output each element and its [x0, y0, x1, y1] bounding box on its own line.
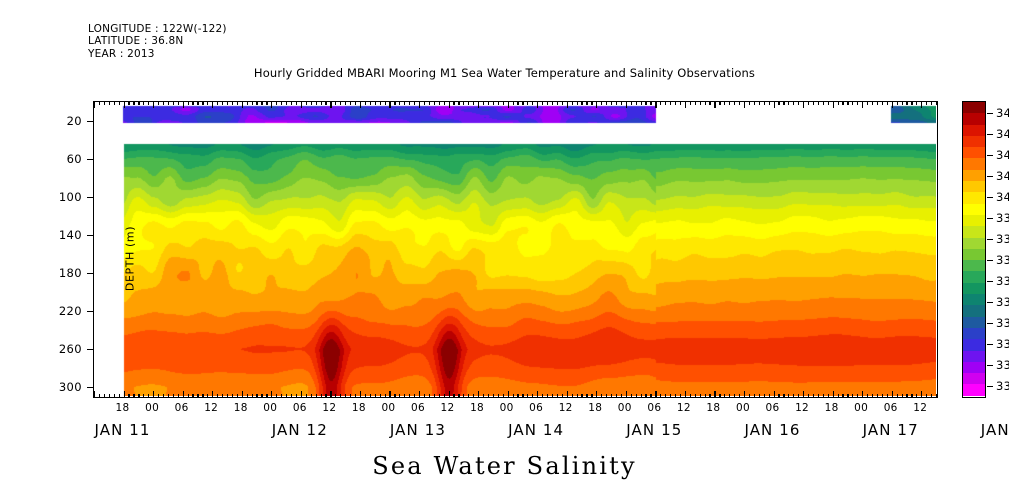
- colorbar-segment: [963, 362, 985, 373]
- x-axis-minor-tick: [902, 101, 903, 105]
- x-axis-minor-tick: [399, 394, 400, 398]
- x-axis-major-tick: [803, 391, 804, 398]
- x-axis-minor-tick: [926, 101, 927, 105]
- x-axis-minor-tick: [675, 101, 676, 105]
- x-axis-minor-tick: [577, 394, 578, 398]
- x-axis-minor-tick: [581, 394, 582, 398]
- x-axis-minor-tick: [527, 394, 528, 398]
- x-axis-minor-tick: [616, 394, 617, 398]
- x-axis-minor-tick: [345, 101, 346, 105]
- x-axis-minor-tick: [847, 394, 848, 398]
- y-axis-tick-label: 60: [36, 152, 82, 166]
- x-axis-minor-tick: [591, 394, 592, 398]
- x-axis-minor-tick: [522, 394, 523, 398]
- x-axis-major-tick: [685, 101, 686, 108]
- x-axis-minor-tick: [163, 101, 164, 105]
- x-axis-minor-tick: [148, 394, 149, 398]
- x-axis-minor-tick: [872, 394, 873, 398]
- colorbar-segment: [963, 305, 985, 316]
- x-axis-minor-tick: [911, 394, 912, 398]
- x-axis-minor-tick: [621, 101, 622, 105]
- x-axis-hour-label: 18: [580, 402, 610, 414]
- colorbar-segment: [963, 249, 985, 260]
- y-axis-tick-label: 180: [36, 266, 82, 280]
- x-axis-hour-label: 06: [876, 402, 906, 414]
- x-axis-minor-tick: [444, 394, 445, 398]
- x-axis-minor-tick: [252, 394, 253, 398]
- x-axis-minor-tick: [321, 101, 322, 105]
- colorbar-segment: [963, 317, 985, 328]
- x-axis-major-tick: [330, 101, 331, 108]
- x-axis-minor-tick: [527, 101, 528, 105]
- colorbar-tick: [987, 134, 993, 135]
- x-axis-minor-tick: [458, 101, 459, 105]
- x-axis-major-tick: [271, 101, 272, 108]
- x-axis-minor-tick: [591, 101, 592, 105]
- x-axis-minor-tick: [321, 394, 322, 398]
- x-axis-minor-tick: [286, 101, 287, 105]
- x-axis-minor-tick: [409, 101, 410, 105]
- x-axis-minor-tick: [783, 101, 784, 105]
- x-axis-hour-label: 12: [669, 402, 699, 414]
- x-axis-minor-tick: [631, 101, 632, 105]
- x-axis-minor-tick: [867, 101, 868, 105]
- x-axis-minor-tick: [808, 394, 809, 398]
- x-axis-major-tick: [508, 391, 509, 398]
- x-axis-major-tick: [94, 101, 95, 108]
- colorbar-segment: [963, 170, 985, 181]
- x-axis-major-tick: [862, 391, 863, 398]
- x-axis-day-label: JAN 17: [826, 421, 956, 439]
- x-axis-minor-tick: [197, 101, 198, 105]
- x-axis-minor-tick: [340, 101, 341, 105]
- x-axis-minor-tick: [429, 101, 430, 105]
- x-axis-minor-tick: [562, 101, 563, 105]
- x-axis-minor-tick: [645, 394, 646, 398]
- x-axis-minor-tick: [188, 394, 189, 398]
- x-axis-minor-tick: [872, 101, 873, 105]
- x-axis-hour-label: 00: [373, 402, 403, 414]
- y-axis-tick: [87, 197, 94, 198]
- x-axis-minor-tick: [724, 394, 725, 398]
- x-axis-minor-tick: [808, 101, 809, 105]
- y-axis-tick: [87, 121, 94, 122]
- x-axis-major-tick: [803, 101, 804, 108]
- x-axis-minor-tick: [143, 101, 144, 105]
- x-axis-minor-tick: [754, 101, 755, 105]
- x-axis-hour-label: 12: [433, 402, 463, 414]
- x-axis-major-tick: [301, 391, 302, 398]
- x-axis-minor-tick: [256, 101, 257, 105]
- salinity-contour-plot: DEPTH (m) 2060100140180220260300: [93, 101, 938, 398]
- x-axis-major-tick: [389, 391, 390, 398]
- x-axis-minor-tick: [581, 101, 582, 105]
- colorbar-segment: [963, 102, 985, 113]
- x-axis-minor-tick: [281, 101, 282, 105]
- y-axis-tick-label: 220: [36, 304, 82, 318]
- x-axis-minor-tick: [468, 394, 469, 398]
- colorbar-tick: [987, 176, 993, 177]
- x-axis-minor-tick: [783, 394, 784, 398]
- x-axis-major-tick: [626, 101, 627, 108]
- x-axis-minor-tick: [158, 394, 159, 398]
- colorbar-segment: [963, 373, 985, 384]
- x-axis-minor-tick: [370, 101, 371, 105]
- colorbar-segment: [963, 125, 985, 136]
- x-axis-minor-tick: [798, 394, 799, 398]
- colorbar-tick: [987, 323, 993, 324]
- x-axis-major-tick: [389, 101, 390, 108]
- x-axis-minor-tick: [847, 101, 848, 105]
- x-axis-minor-tick: [192, 101, 193, 105]
- x-axis-hour-label: 18: [226, 402, 256, 414]
- y-axis-tick: [87, 159, 94, 160]
- x-axis-minor-tick: [616, 101, 617, 105]
- x-axis-minor-tick: [434, 394, 435, 398]
- colorbar-segment: [963, 147, 985, 158]
- x-axis-major-tick: [537, 391, 538, 398]
- x-axis-minor-tick: [178, 394, 179, 398]
- x-axis-minor-tick: [178, 101, 179, 105]
- x-axis-minor-tick: [916, 101, 917, 105]
- x-axis-minor-tick: [217, 101, 218, 105]
- x-axis-major-tick: [153, 391, 154, 398]
- x-axis-minor-tick: [788, 101, 789, 105]
- x-axis-minor-tick: [404, 101, 405, 105]
- x-axis-minor-tick: [114, 394, 115, 398]
- x-axis-major-tick: [655, 391, 656, 398]
- x-axis-minor-tick: [453, 101, 454, 105]
- x-axis-minor-tick: [311, 101, 312, 105]
- x-axis-minor-tick: [513, 101, 514, 105]
- x-axis-minor-tick: [498, 394, 499, 398]
- x-axis-hour-label: 06: [758, 402, 788, 414]
- x-axis-minor-tick: [532, 394, 533, 398]
- x-axis-minor-tick: [887, 101, 888, 105]
- x-axis-minor-tick: [380, 394, 381, 398]
- x-axis-minor-tick: [306, 394, 307, 398]
- x-axis-hour-label: 06: [403, 402, 433, 414]
- x-axis-minor-tick: [173, 101, 174, 105]
- x-axis-minor-tick: [557, 101, 558, 105]
- x-axis-minor-tick: [173, 394, 174, 398]
- x-axis-major-tick: [330, 391, 331, 398]
- x-axis-minor-tick: [857, 101, 858, 105]
- x-axis-minor-tick: [729, 394, 730, 398]
- x-axis-minor-tick: [197, 394, 198, 398]
- x-axis-minor-tick: [493, 394, 494, 398]
- x-axis-minor-tick: [109, 394, 110, 398]
- x-axis-minor-tick: [148, 101, 149, 105]
- x-axis-hour-label: 00: [137, 402, 167, 414]
- x-axis-minor-tick: [296, 101, 297, 105]
- colorbar-tick-label: 33.45: [996, 316, 1009, 330]
- x-axis-major-tick: [626, 391, 627, 398]
- x-axis-minor-tick: [99, 101, 100, 105]
- colorbar-segment: [963, 384, 985, 395]
- x-axis-minor-tick: [168, 101, 169, 105]
- x-axis-major-tick: [124, 101, 125, 108]
- colorbar-segment: [963, 294, 985, 305]
- x-axis-minor-tick: [439, 101, 440, 105]
- x-axis-minor-tick: [877, 394, 878, 398]
- x-axis-hour-label: 06: [285, 402, 315, 414]
- colorbar-tick-label: 34.45: [996, 106, 1009, 120]
- x-axis-minor-tick: [857, 394, 858, 398]
- colorbar-segment: [963, 192, 985, 203]
- colorbar-segment: [963, 328, 985, 339]
- x-axis-minor-tick: [493, 101, 494, 105]
- x-axis-minor-tick: [128, 394, 129, 398]
- x-axis-minor-tick: [936, 394, 937, 398]
- x-axis-major-tick: [921, 391, 922, 398]
- colorbar-tick-label: 34.25: [996, 148, 1009, 162]
- colorbar-tick: [987, 260, 993, 261]
- x-axis-minor-tick: [606, 101, 607, 105]
- colorbar-segment: [963, 113, 985, 124]
- colorbar-segment: [963, 136, 985, 147]
- x-axis-minor-tick: [325, 101, 326, 105]
- x-axis-minor-tick: [316, 394, 317, 398]
- x-axis-minor-tick: [926, 394, 927, 398]
- x-axis-minor-tick: [867, 394, 868, 398]
- x-axis-minor-tick: [764, 394, 765, 398]
- colorbar-tick: [987, 281, 993, 282]
- colorbar-tick: [987, 365, 993, 366]
- longitude-line: LONGITUDE : 122W(-122): [88, 23, 227, 35]
- x-axis-minor-tick: [690, 101, 691, 105]
- x-axis-minor-tick: [256, 394, 257, 398]
- x-axis-minor-tick: [670, 394, 671, 398]
- colorbar-tick: [987, 386, 993, 387]
- colorbar-tick: [987, 218, 993, 219]
- x-axis-hour-label: 12: [551, 402, 581, 414]
- x-axis-major-tick: [744, 391, 745, 398]
- x-axis-major-tick: [242, 101, 243, 108]
- x-axis-minor-tick: [217, 394, 218, 398]
- x-axis-minor-tick: [650, 394, 651, 398]
- colorbar-segment: [963, 238, 985, 249]
- x-axis-minor-tick: [572, 101, 573, 105]
- x-axis-major-tick: [419, 101, 420, 108]
- y-axis-label: DEPTH (m): [124, 199, 137, 319]
- colorbar-tick-label: 33.25: [996, 358, 1009, 372]
- colorbar-tick: [987, 239, 993, 240]
- x-axis-minor-tick: [606, 394, 607, 398]
- x-axis-minor-tick: [237, 394, 238, 398]
- x-axis-hour-label: 00: [846, 402, 876, 414]
- x-axis-hour-label: 06: [521, 402, 551, 414]
- y-axis-tick-label: 140: [36, 228, 82, 242]
- colorbar-tick-label: 34.05: [996, 190, 1009, 204]
- x-axis-minor-tick: [636, 101, 637, 105]
- x-axis-minor-tick: [119, 101, 120, 105]
- x-axis-major-tick: [537, 101, 538, 108]
- x-axis-hour-label: 12: [314, 402, 344, 414]
- x-axis-major-tick: [596, 101, 597, 108]
- x-axis-minor-tick: [793, 101, 794, 105]
- x-axis-minor-tick: [128, 101, 129, 105]
- x-axis-minor-tick: [237, 101, 238, 105]
- x-axis-minor-tick: [636, 394, 637, 398]
- salinity-field-canvas: [94, 102, 936, 396]
- x-axis-minor-tick: [404, 394, 405, 398]
- x-axis-minor-tick: [434, 101, 435, 105]
- x-axis-minor-tick: [247, 101, 248, 105]
- x-axis-minor-tick: [670, 101, 671, 105]
- x-axis-minor-tick: [503, 394, 504, 398]
- x-axis-minor-tick: [192, 394, 193, 398]
- x-axis-major-tick: [478, 101, 479, 108]
- x-axis-minor-tick: [749, 101, 750, 105]
- x-axis-minor-tick: [601, 101, 602, 105]
- x-axis-major-tick: [449, 101, 450, 108]
- x-axis-minor-tick: [232, 394, 233, 398]
- x-axis-minor-tick: [665, 101, 666, 105]
- x-axis-minor-tick: [291, 394, 292, 398]
- x-axis-minor-tick: [232, 101, 233, 105]
- x-axis-minor-tick: [754, 394, 755, 398]
- x-axis-minor-tick: [394, 101, 395, 105]
- y-axis-tick-label: 100: [36, 190, 82, 204]
- x-axis-minor-tick: [104, 101, 105, 105]
- x-axis-minor-tick: [882, 101, 883, 105]
- x-axis-minor-tick: [680, 394, 681, 398]
- x-axis-day-label: JAN 13: [353, 421, 483, 439]
- year-line: YEAR : 2013: [88, 48, 155, 60]
- x-axis-minor-tick: [370, 394, 371, 398]
- x-axis-minor-tick: [852, 394, 853, 398]
- x-axis-minor-tick: [266, 394, 267, 398]
- x-axis-hour-label: 18: [344, 402, 374, 414]
- x-axis-minor-tick: [577, 101, 578, 105]
- x-axis-minor-tick: [163, 394, 164, 398]
- x-axis-minor-tick: [517, 101, 518, 105]
- x-axis-major-tick: [744, 101, 745, 108]
- x-axis-minor-tick: [645, 101, 646, 105]
- colorbar-tick-label: 33.95: [996, 211, 1009, 225]
- x-axis-major-tick: [714, 391, 715, 398]
- x-axis-minor-tick: [365, 394, 366, 398]
- x-axis-minor-tick: [202, 101, 203, 105]
- x-axis-day-label: JAN 15: [589, 421, 719, 439]
- y-axis-tick: [87, 387, 94, 388]
- x-axis-major-tick: [774, 391, 775, 398]
- x-axis-minor-tick: [99, 394, 100, 398]
- x-axis-minor-tick: [650, 101, 651, 105]
- x-axis-minor-tick: [168, 394, 169, 398]
- x-axis-minor-tick: [842, 101, 843, 105]
- x-axis-major-tick: [596, 391, 597, 398]
- x-axis-minor-tick: [709, 101, 710, 105]
- x-axis-major-tick: [242, 391, 243, 398]
- x-axis-minor-tick: [247, 394, 248, 398]
- x-axis-minor-tick: [325, 394, 326, 398]
- x-axis-minor-tick: [503, 101, 504, 105]
- x-axis-minor-tick: [227, 101, 228, 105]
- x-axis-minor-tick: [729, 101, 730, 105]
- x-axis-minor-tick: [838, 394, 839, 398]
- x-axis-minor-tick: [788, 394, 789, 398]
- x-axis-major-tick: [360, 391, 361, 398]
- x-axis-minor-tick: [473, 394, 474, 398]
- x-axis-day-label: JAN 16: [708, 421, 838, 439]
- x-axis-major-tick: [271, 391, 272, 398]
- x-axis-major-tick: [478, 391, 479, 398]
- x-axis-major-tick: [94, 391, 95, 398]
- x-axis-minor-tick: [222, 394, 223, 398]
- x-axis-major-tick: [449, 391, 450, 398]
- x-axis-minor-tick: [631, 394, 632, 398]
- x-axis-minor-tick: [542, 394, 543, 398]
- x-axis-minor-tick: [818, 394, 819, 398]
- x-axis-major-tick: [301, 101, 302, 108]
- x-axis-minor-tick: [695, 101, 696, 105]
- colorbar-segment: [963, 204, 985, 215]
- x-axis-minor-tick: [813, 394, 814, 398]
- x-axis-minor-tick: [798, 101, 799, 105]
- x-axis-major-tick: [567, 391, 568, 398]
- x-axis-minor-tick: [281, 394, 282, 398]
- x-axis-major-tick: [714, 101, 715, 108]
- x-axis-major-tick: [183, 101, 184, 108]
- x-axis-minor-tick: [769, 101, 770, 105]
- x-axis-minor-tick: [828, 101, 829, 105]
- colorbar: 34.4534.3534.2534.1534.0533.9533.8533.75…: [962, 101, 986, 398]
- x-axis-minor-tick: [350, 101, 351, 105]
- x-axis-minor-tick: [759, 101, 760, 105]
- x-axis-minor-tick: [276, 101, 277, 105]
- colorbar-tick-label: 33.65: [996, 274, 1009, 288]
- x-axis-minor-tick: [557, 394, 558, 398]
- x-axis-minor-tick: [759, 394, 760, 398]
- x-axis-minor-tick: [562, 394, 563, 398]
- x-axis-major-tick: [833, 391, 834, 398]
- x-axis-minor-tick: [852, 101, 853, 105]
- x-axis-major-tick: [360, 101, 361, 108]
- x-axis-minor-tick: [719, 394, 720, 398]
- colorbar-tick: [987, 197, 993, 198]
- colorbar-tick-label: 33.85: [996, 232, 1009, 246]
- x-axis-minor-tick: [700, 394, 701, 398]
- y-axis-tick-label: 300: [36, 380, 82, 394]
- y-axis-tick-label: 20: [36, 114, 82, 128]
- x-axis-minor-tick: [641, 394, 642, 398]
- x-axis-minor-tick: [453, 394, 454, 398]
- x-axis-minor-tick: [793, 394, 794, 398]
- x-axis-hour-label: 00: [610, 402, 640, 414]
- x-axis-day-label: JAN 18: [944, 421, 1009, 439]
- x-axis-minor-tick: [552, 101, 553, 105]
- x-axis-major-tick: [774, 101, 775, 108]
- x-axis-minor-tick: [252, 101, 253, 105]
- x-axis-minor-tick: [719, 101, 720, 105]
- y-axis-tick-label: 260: [36, 342, 82, 356]
- colorbar-tick: [987, 155, 993, 156]
- x-axis-minor-tick: [749, 394, 750, 398]
- y-axis-tick: [87, 349, 94, 350]
- x-axis-minor-tick: [739, 394, 740, 398]
- colorbar-tick-label: 33.35: [996, 337, 1009, 351]
- y-axis-tick: [87, 273, 94, 274]
- x-axis-minor-tick: [877, 101, 878, 105]
- x-axis-minor-tick: [842, 394, 843, 398]
- x-axis-minor-tick: [109, 101, 110, 105]
- colorbar-tick: [987, 302, 993, 303]
- x-axis-minor-tick: [680, 101, 681, 105]
- chart-title: Hourly Gridded MBARI Mooring M1 Sea Wate…: [0, 66, 1009, 80]
- colorbar-tick-label: 34.35: [996, 127, 1009, 141]
